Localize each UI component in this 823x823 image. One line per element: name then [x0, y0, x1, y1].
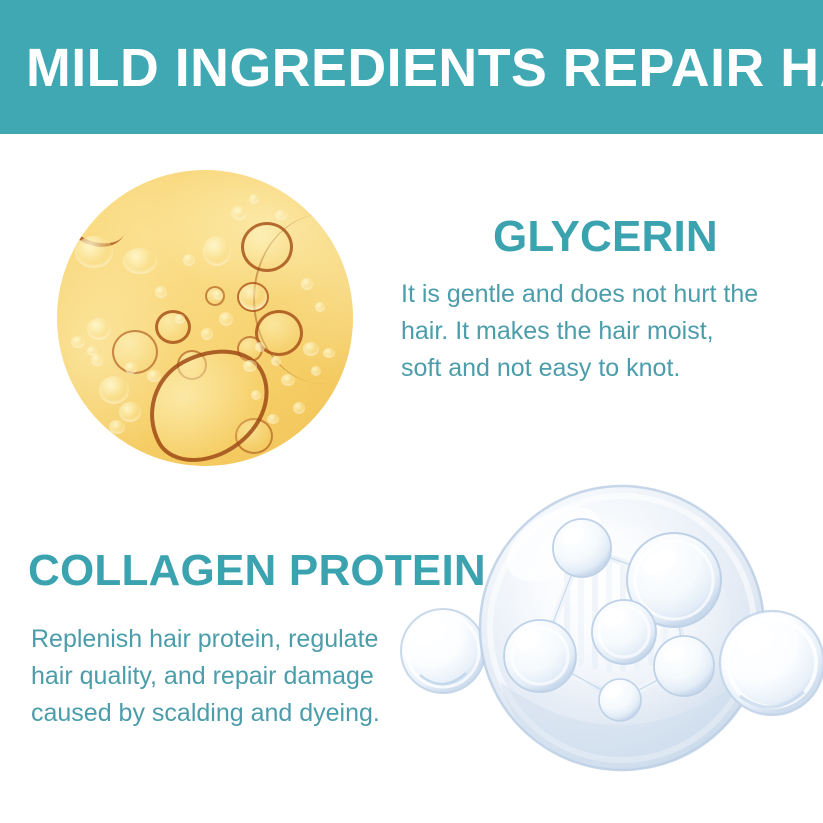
oil-droplet — [125, 362, 137, 374]
oil-droplet — [75, 236, 113, 268]
oil-droplet — [311, 366, 321, 376]
oil-droplet-ring — [241, 222, 293, 272]
oil-droplet — [293, 402, 305, 414]
oil-droplet — [239, 284, 267, 310]
oil-droplet — [123, 248, 157, 274]
oil-droplet — [213, 290, 223, 300]
glycerin-description: It is gentle and does not hurt the hair.… — [401, 276, 801, 387]
oil-droplet — [249, 194, 259, 204]
oil-droplet — [251, 390, 261, 400]
glycerin-heading: GLYCERIN — [493, 214, 718, 260]
oil-droplet — [99, 376, 129, 404]
oil-droplet — [109, 420, 125, 434]
oil-droplet — [281, 374, 295, 386]
page-title: MILD INGREDIENTS REPAIR HAIR — [26, 40, 797, 96]
oil-droplet — [155, 286, 167, 298]
oil-droplet-ring — [155, 310, 191, 344]
oil-droplet — [183, 254, 195, 266]
satellite-bubble-right — [720, 611, 823, 715]
header-banner: MILD INGREDIENTS REPAIR HAIR — [0, 0, 823, 134]
satellite-bubble-left — [401, 609, 485, 693]
oil-droplet — [203, 236, 231, 266]
oil-droplet — [303, 342, 319, 356]
oil-droplet — [267, 414, 279, 424]
collagen-molecule-image — [392, 470, 823, 790]
oil-droplet — [87, 318, 111, 340]
oil-droplet — [301, 278, 313, 290]
oil-droplet — [315, 302, 325, 312]
oil-droplet — [201, 328, 213, 340]
oil-droplet — [71, 336, 85, 348]
collagen-description: Replenish hair protein, regulate hair qu… — [31, 621, 431, 732]
oil-droplet — [231, 206, 247, 220]
oil-droplet — [275, 210, 287, 220]
oil-droplet — [219, 312, 233, 326]
glycerin-oil-image — [57, 170, 353, 466]
oil-droplet — [271, 356, 281, 366]
oil-droplet — [175, 314, 185, 324]
oil-droplet — [323, 348, 335, 358]
oil-droplet — [243, 360, 257, 372]
oil-droplet — [255, 342, 265, 352]
oil-droplet — [147, 370, 161, 382]
product-infographic: MILD INGREDIENTS REPAIR HAIR — [0, 0, 823, 823]
molecule-sphere-graphic — [392, 470, 823, 790]
oil-droplet — [119, 402, 141, 422]
oil-droplet — [87, 346, 97, 356]
